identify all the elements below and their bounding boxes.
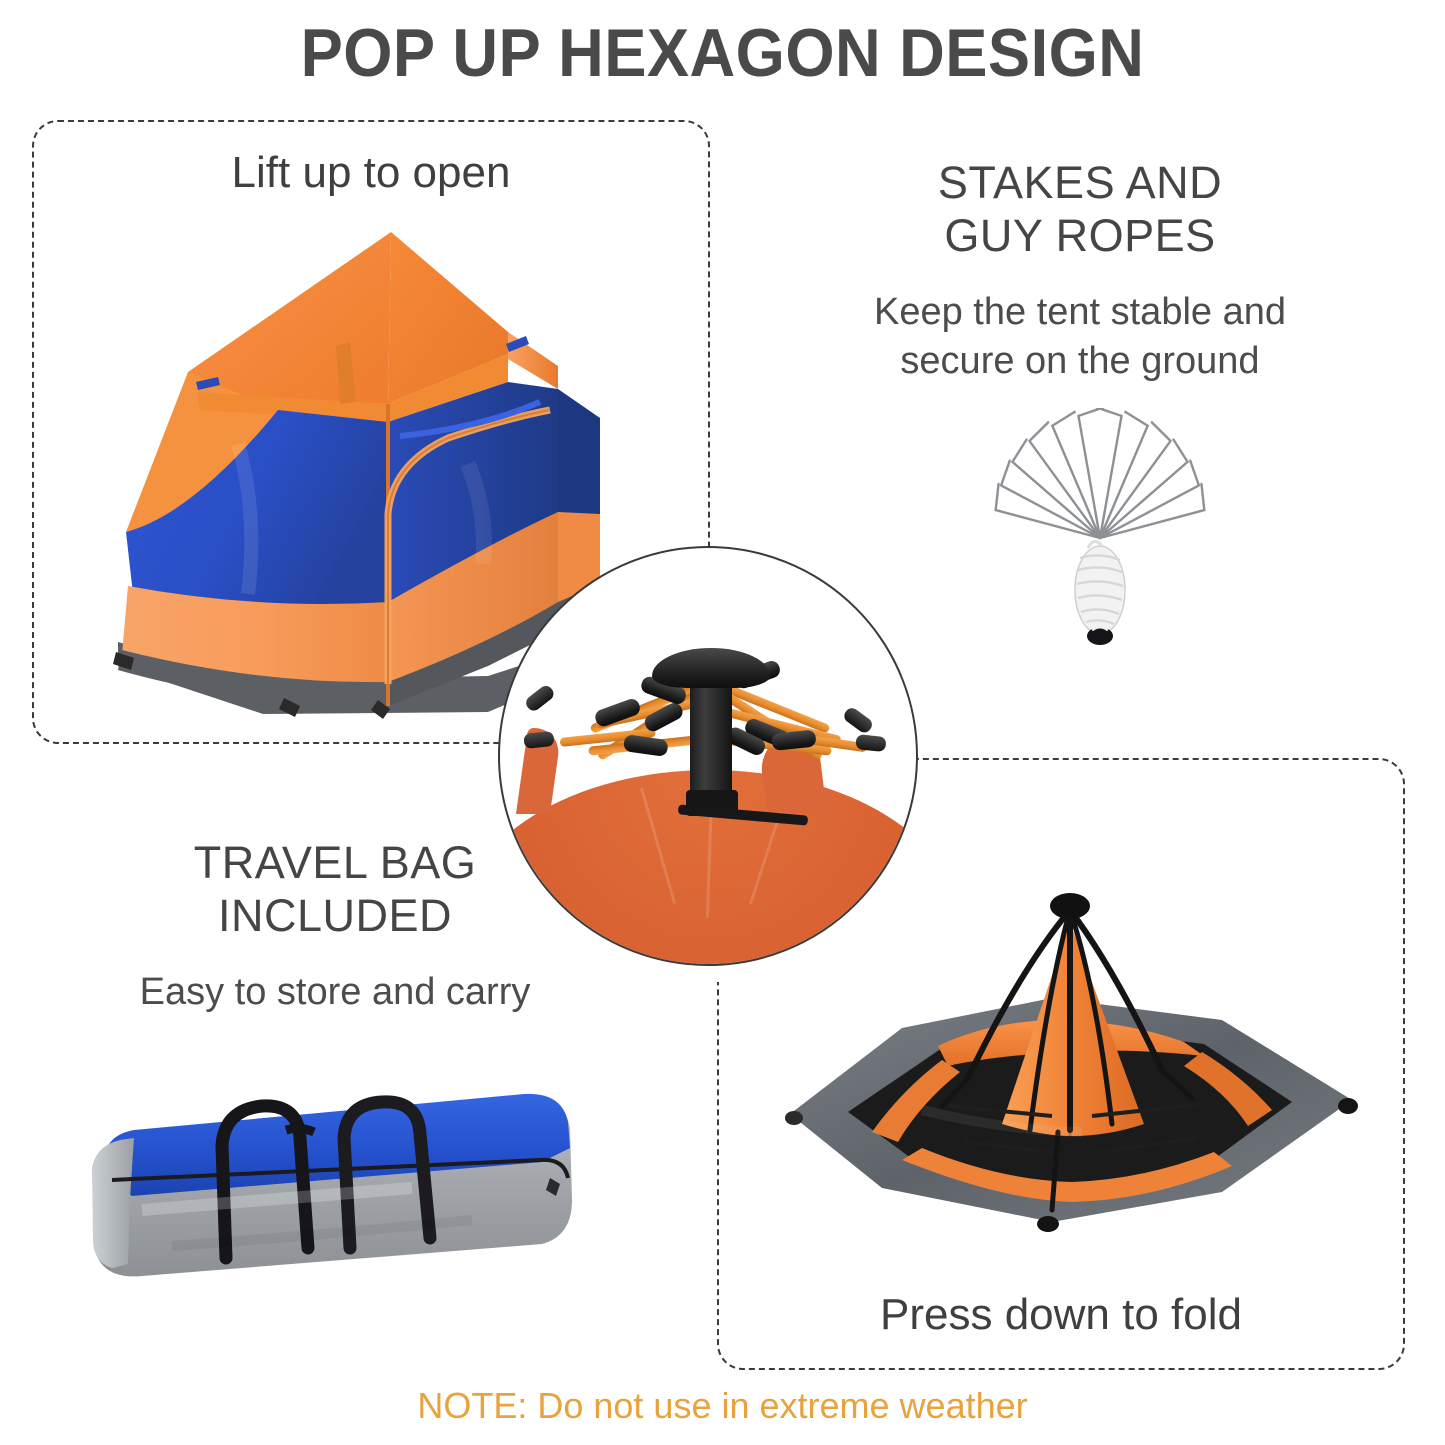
stake-fan [992,408,1208,538]
folded-buckle-bottom [1037,1216,1059,1232]
stakes-headline: STAKES AND GUY ROPES [760,156,1400,262]
pole-tip-far-left [523,683,556,713]
tent-blue-far-right [558,389,600,514]
stakes-sub-line2: secure on the ground [760,337,1400,386]
stakes-and-guy-ropes-photo [950,408,1250,658]
bag-end-cap [92,1138,134,1268]
folded-buckle-right [1338,1098,1358,1114]
infographic-root: POP UP HEXAGON DESIGN [0,0,1445,1445]
travel-bag-subtext: Easy to store and carry [40,968,630,1017]
stakes-subtext: Keep the tent stable and secure on the g… [760,288,1400,387]
note-text: NOTE: Do not use in extreme weather [0,1385,1445,1427]
pole-tip-right [855,734,886,752]
caption-press-down-to-fold: Press down to fold [717,1290,1405,1340]
hexagon-hub-closeup-callout [498,546,918,966]
bag-handle-keeper [286,1128,314,1132]
rope-tensioner [1087,627,1113,645]
folded-apex-hub [1050,893,1090,919]
stakes-headline-line1: STAKES AND [760,156,1400,209]
hub-cap [652,648,770,688]
travel-bag-photo [72,1050,602,1300]
stakes-headline-line2: GUY ROPES [760,209,1400,262]
tent-roof-left [188,232,391,404]
caption-lift-up-to-open: Lift up to open [32,148,710,198]
pole-tip-far-right [842,705,875,735]
folded-buckle-left [785,1111,803,1125]
guy-rope-coil [1075,541,1125,645]
joint-left-2 [623,734,669,757]
stakes-sub-line1: Keep the tent stable and [760,288,1400,337]
page-title: POP UP HEXAGON DESIGN [51,14,1395,92]
